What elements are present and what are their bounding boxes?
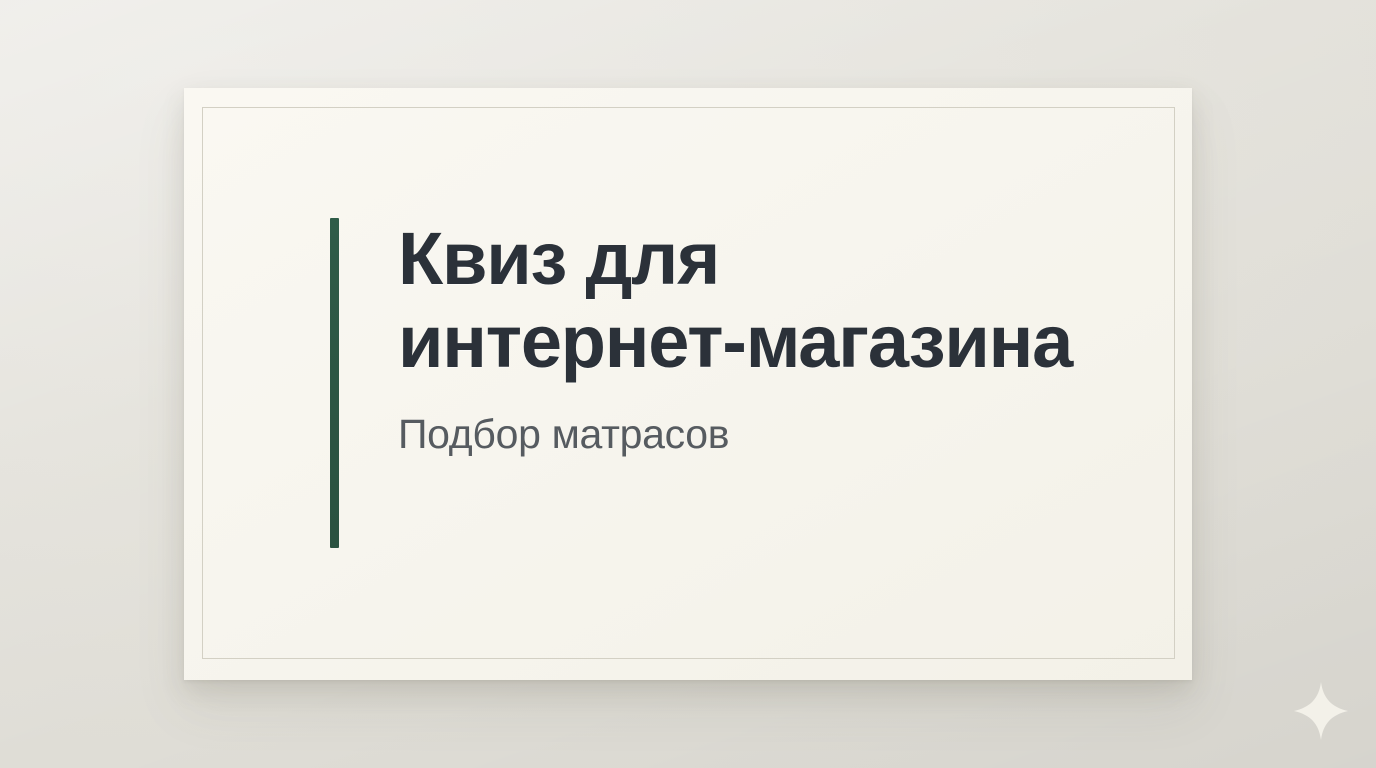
slide-text-block: Квиз для интернет-магазина Подбор матрас… xyxy=(398,218,1072,459)
sparkle-icon xyxy=(1294,682,1348,740)
page-title: Квиз для интернет-магазина xyxy=(398,218,1072,384)
page-subtitle: Подбор матрасов xyxy=(398,410,1072,459)
accent-bar xyxy=(330,218,339,548)
slide-card: Квиз для интернет-магазина Подбор матрас… xyxy=(184,88,1192,680)
